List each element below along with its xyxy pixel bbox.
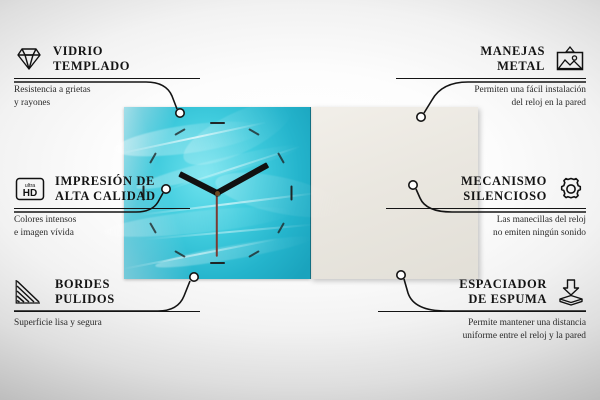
feature-title: MECANISMO SILENCIOSO bbox=[461, 174, 547, 204]
underline-rule bbox=[386, 208, 586, 210]
feature-description: Resistencia a grietas y rayones bbox=[14, 84, 214, 109]
feature-bordes-pulidos: BORDES PULIDOS Superficie lisa y segura bbox=[14, 277, 224, 330]
feature-heading: BORDES PULIDOS bbox=[14, 277, 224, 307]
polished-edge-icon bbox=[14, 278, 46, 306]
feature-heading: VIDRIO TEMPLADO bbox=[14, 44, 214, 74]
infographic-canvas: VIDRIO TEMPLADO Resistencia a grietas y … bbox=[0, 0, 600, 400]
underline-rule bbox=[378, 311, 586, 313]
underline-rule bbox=[14, 78, 200, 80]
feature-heading: MECANISMO SILENCIOSO bbox=[376, 174, 586, 204]
feature-description: Superficie lisa y segura bbox=[14, 317, 224, 329]
hour-tick bbox=[210, 122, 225, 124]
feature-mecanismo-silencioso: MECANISMO SILENCIOSO Las manecillas del … bbox=[376, 174, 586, 239]
hour-tick bbox=[210, 262, 225, 264]
underline-rule bbox=[14, 311, 200, 313]
ultra-hd-icon: ultra HD bbox=[14, 175, 46, 203]
feature-heading: ultra HD IMPRESIÓN DE ALTA CALIDAD bbox=[14, 174, 224, 204]
gear-icon bbox=[556, 175, 586, 203]
feature-description: Permiten una fácil instalación del reloj… bbox=[386, 84, 586, 109]
feature-title: IMPRESIÓN DE ALTA CALIDAD bbox=[55, 174, 156, 204]
feature-manejas-metal: MANEJAS METAL Permiten una fácil instala… bbox=[386, 44, 586, 109]
diamond-icon bbox=[14, 45, 44, 73]
feature-heading: ESPACIADOR DE ESPUMA bbox=[366, 277, 586, 307]
feature-description: Las manecillas del reloj no emiten ningú… bbox=[376, 214, 586, 239]
feature-title: ESPACIADOR DE ESPUMA bbox=[459, 277, 547, 307]
picture-frame-hanger-icon bbox=[554, 45, 586, 73]
feature-heading: MANEJAS METAL bbox=[386, 44, 586, 74]
hour-tick bbox=[290, 186, 292, 201]
feature-espaciador-espuma: ESPACIADOR DE ESPUMA Permite mantener un… bbox=[366, 277, 586, 342]
feature-title: VIDRIO TEMPLADO bbox=[53, 44, 130, 74]
feature-title: BORDES PULIDOS bbox=[55, 277, 115, 307]
foam-spacer-icon bbox=[556, 278, 586, 306]
feature-description: Colores intensos e imagen vívida bbox=[14, 214, 224, 239]
feature-impresion-alta-calidad: ultra HD IMPRESIÓN DE ALTA CALIDAD Color… bbox=[14, 174, 224, 239]
svg-text:HD: HD bbox=[23, 188, 37, 199]
feature-description: Permite mantener una distancia uniforme … bbox=[366, 317, 586, 342]
underline-rule bbox=[14, 208, 190, 210]
feature-vidrio-templado: VIDRIO TEMPLADO Resistencia a grietas y … bbox=[14, 44, 214, 109]
feature-title: MANEJAS METAL bbox=[480, 44, 545, 74]
underline-rule bbox=[396, 78, 586, 80]
